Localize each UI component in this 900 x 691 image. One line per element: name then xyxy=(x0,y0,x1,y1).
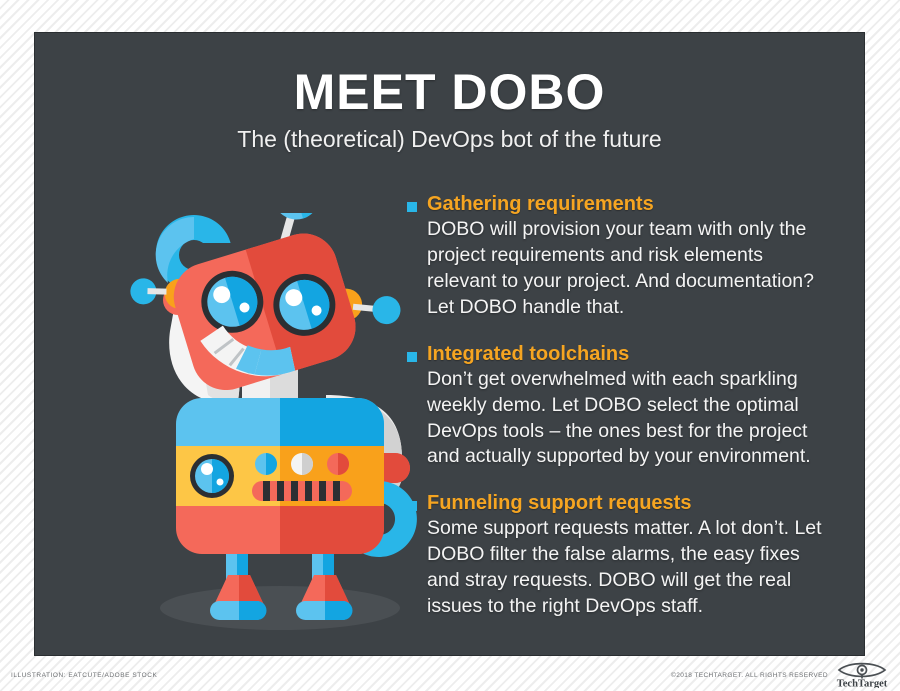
poster-page: MEET DOBO The (theoretical) DevOps bot o… xyxy=(0,0,900,691)
robot-ear-knob-blue xyxy=(369,293,404,328)
robot-foot-right-sole-shade xyxy=(325,601,353,620)
copyright-notice: ©2018 TECHTARGET. ALL RIGHTS RESERVED xyxy=(671,672,828,679)
illustration-credit: ILLUSTRATION: EATCUTE/ADOBE STOCK xyxy=(11,672,157,679)
feature-body: Don’t get overwhelmed with each sparklin… xyxy=(427,367,825,471)
robot-antenna-right-knob xyxy=(268,213,325,225)
feature-list: Gathering requirements DOBO will provisi… xyxy=(407,193,825,620)
feature-block-gathering-requirements: Gathering requirements DOBO will provisi… xyxy=(407,193,825,321)
feature-heading: Funneling support requests xyxy=(427,492,825,515)
robot-foot-left-sole-shade xyxy=(239,601,267,620)
robot-panel-gauge-glint-large xyxy=(201,463,213,475)
page-title: MEET DOBO xyxy=(35,67,864,117)
robot-torso-chest-shade xyxy=(280,398,384,446)
page-subtitle: The (theoretical) DevOps bot of the futu… xyxy=(35,128,864,151)
feature-body: DOBO will provision your team with only … xyxy=(427,217,825,321)
feature-body: Some support requests matter. A lot don’… xyxy=(427,516,825,620)
square-bullet-icon xyxy=(407,352,417,362)
feature-heading: Integrated toolchains xyxy=(427,343,825,366)
poster-panel: MEET DOBO The (theoretical) DevOps bot o… xyxy=(35,33,864,655)
square-bullet-icon xyxy=(407,501,417,511)
eye-icon xyxy=(839,664,885,679)
techtarget-wordmark: TechTarget xyxy=(837,679,888,689)
feature-block-funneling-support-requests: Funneling support requests Some support … xyxy=(407,492,825,620)
robot-panel-gauge-glint-small xyxy=(217,479,224,486)
dobo-robot-illustration xyxy=(130,213,430,638)
robot-shadow-ellipse xyxy=(160,586,400,630)
techtarget-logo: TechTarget xyxy=(832,662,892,688)
feature-heading: Gathering requirements xyxy=(427,193,825,216)
square-bullet-icon xyxy=(407,202,417,212)
feature-block-integrated-toolchains: Integrated toolchains Don’t get overwhel… xyxy=(407,343,825,471)
robot-torso-belt-shade xyxy=(280,506,384,554)
